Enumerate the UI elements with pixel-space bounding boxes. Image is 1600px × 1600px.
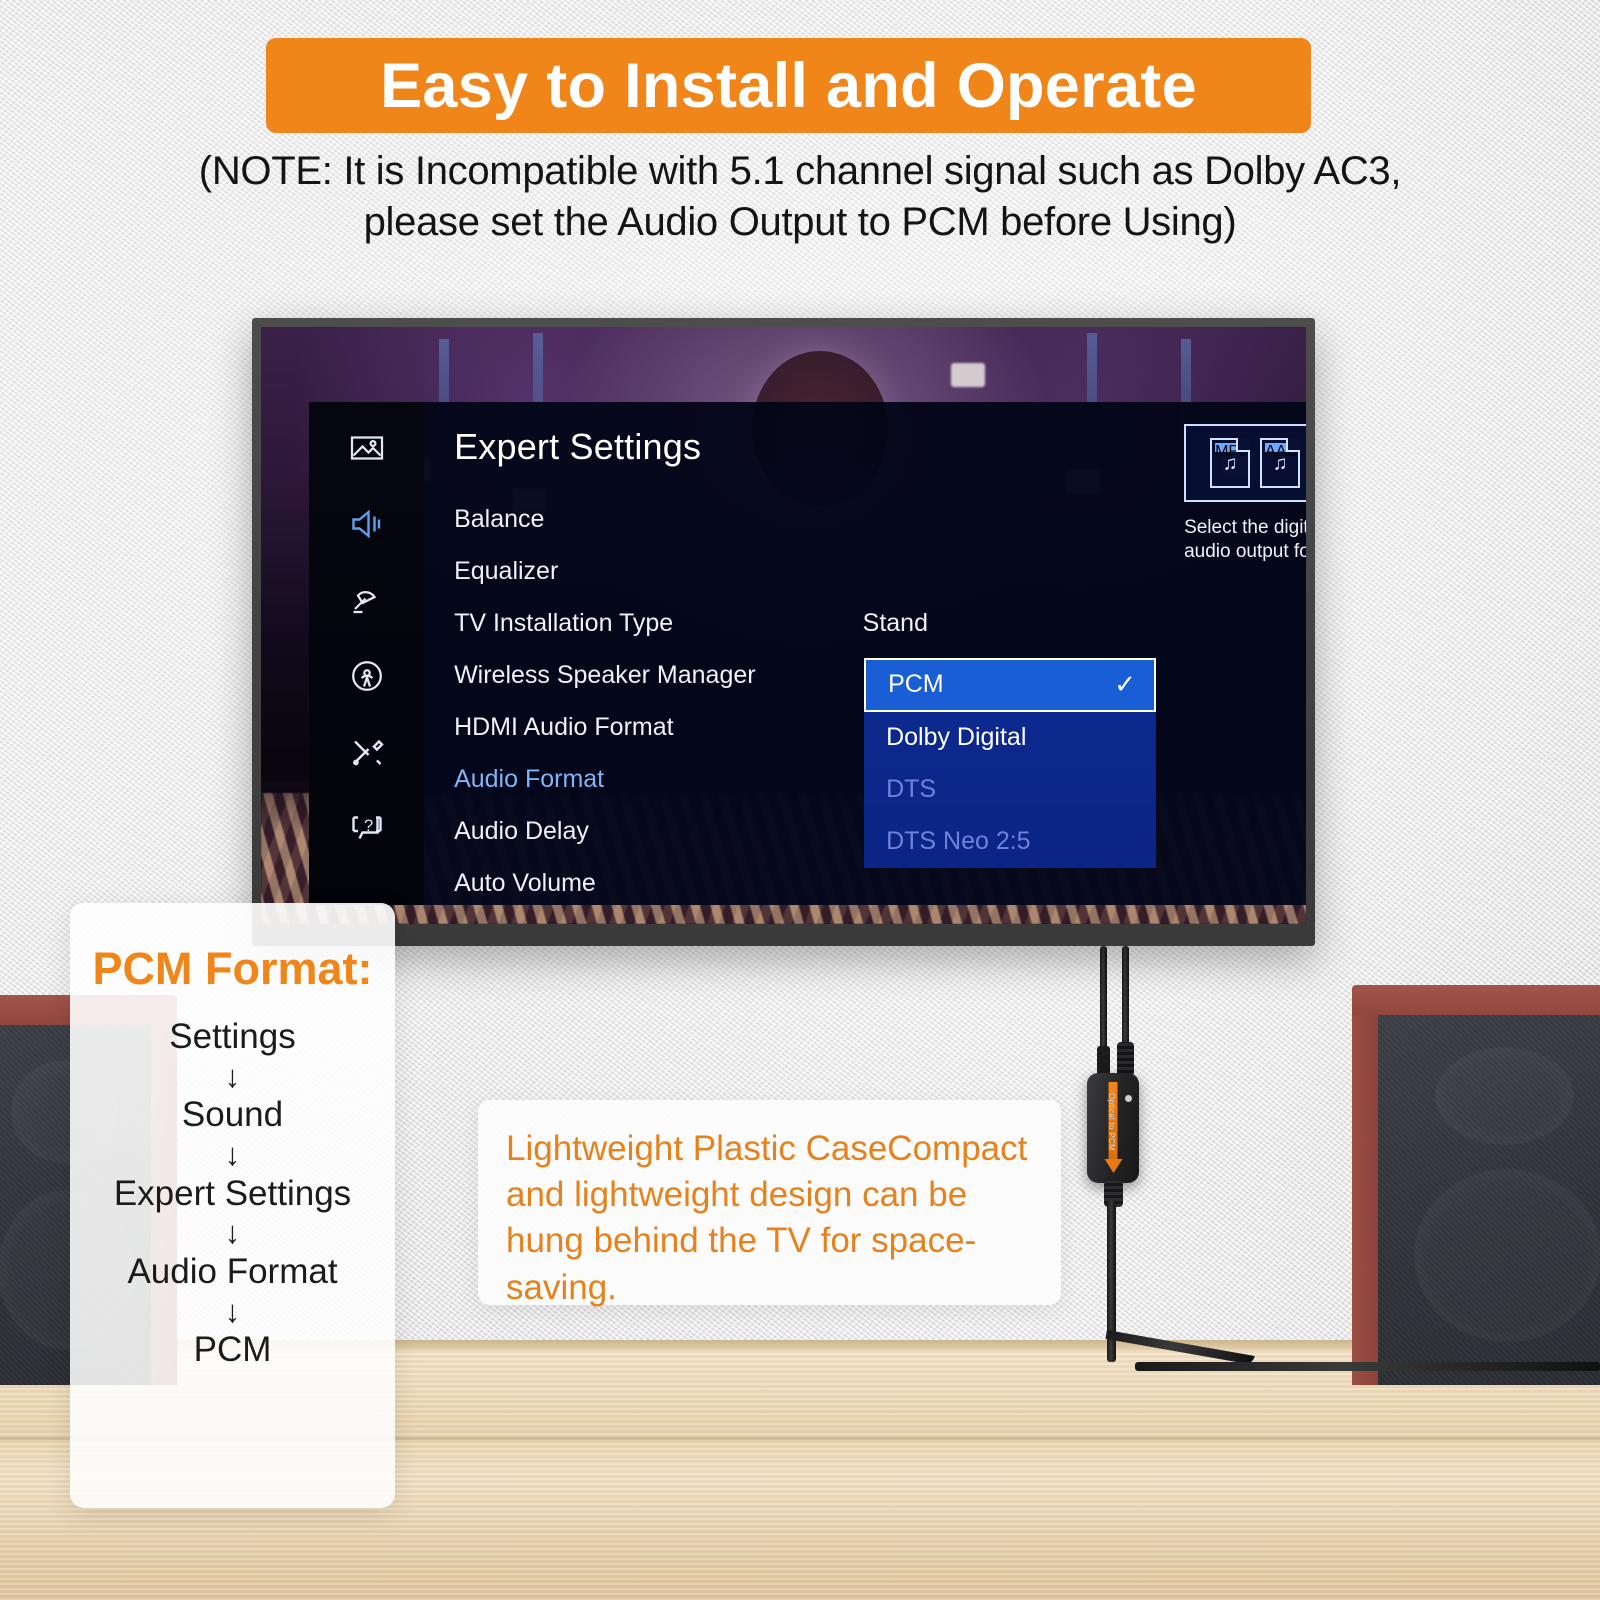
- menu-item-label: Audio Format: [454, 765, 604, 794]
- note-line-2: please set the Audio Output to PCM befor…: [0, 197, 1600, 248]
- sound-icon[interactable]: [347, 504, 387, 544]
- menu-item-value: Stand: [863, 609, 928, 638]
- flow-step-settings: Settings: [70, 1019, 395, 1056]
- help-description: Select the digital audio output format.: [1184, 516, 1306, 564]
- help-description-line-1: Select the digital: [1184, 516, 1306, 540]
- check-icon: ✓: [1114, 669, 1136, 700]
- flow-step-expert-settings: Expert Settings: [70, 1176, 395, 1213]
- adapter-arrow-label: Optical to PCM: [1107, 1093, 1116, 1161]
- dropdown-option-dts[interactable]: DTS: [864, 764, 1156, 816]
- menu-item-equalizer[interactable]: Equalizer: [454, 546, 1306, 598]
- menu-item-label: TV Installation Type: [454, 609, 673, 638]
- file-tag-label: MP3: [1215, 443, 1241, 452]
- arrow-down-icon: ↓: [70, 1296, 395, 1329]
- pcm-format-flow-card: PCM Format: Settings ↓ Sound ↓ Expert Se…: [70, 903, 395, 1508]
- dropdown-option-dolby-digital[interactable]: Dolby Digital: [864, 712, 1156, 764]
- page-headline: Easy to Install and Operate: [380, 50, 1197, 122]
- speaker-right: [1352, 985, 1600, 1385]
- flow-card-title: PCM Format:: [70, 943, 395, 995]
- dropdown-option-label: DTS: [886, 775, 936, 804]
- expert-settings-overlay: ? Expert Settings Balance Equalizer TV I…: [309, 402, 1306, 905]
- svg-text:?: ?: [364, 817, 373, 835]
- support-icon[interactable]: ?: [347, 808, 387, 848]
- menu-item-label: Auto Volume: [454, 869, 596, 898]
- help-description-line-2: audio output format.: [1184, 540, 1306, 564]
- television: ? Expert Settings Balance Equalizer TV I…: [252, 318, 1315, 946]
- menu-item-label: Wireless Speaker Manager: [454, 661, 756, 690]
- feature-caption-card: Lightweight Plastic CaseCompact and ligh…: [478, 1100, 1061, 1305]
- settings-body: Expert Settings Balance Equalizer TV Ins…: [424, 402, 1306, 905]
- music-note-icon: ♫: [1273, 453, 1288, 476]
- flow-step-audio-format: Audio Format: [70, 1254, 395, 1291]
- menu-item-balance[interactable]: Balance: [454, 494, 1306, 546]
- adapter-led-icon: [1125, 1095, 1132, 1102]
- arrow-down-icon: ↓: [70, 1217, 395, 1250]
- optical-to-pcm-adapter: Optical to PCM: [1087, 1073, 1139, 1183]
- dropdown-option-label: PCM: [888, 670, 944, 699]
- file-tag-label: AAC: [1265, 443, 1291, 452]
- audio-format-dropdown[interactable]: PCM ✓ Dolby Digital DTS DTS Neo 2:5: [864, 658, 1156, 868]
- compatibility-note: (NOTE: It is Incompatible with 5.1 chann…: [0, 146, 1600, 248]
- note-line-1: (NOTE: It is Incompatible with 5.1 chann…: [0, 146, 1600, 197]
- menu-item-label: Balance: [454, 505, 544, 534]
- menu-item-label: Audio Delay: [454, 817, 589, 846]
- network-icon[interactable]: [347, 656, 387, 696]
- flow-step-pcm: PCM: [70, 1332, 395, 1369]
- settings-sidebar[interactable]: ?: [309, 402, 424, 905]
- audio-format-illustration: MP3 ♫ AAC ♫ WAV ♫: [1184, 424, 1306, 502]
- arrow-down-icon: ↓: [70, 1061, 395, 1094]
- cable-lower-horizontal: [1135, 1362, 1600, 1371]
- arrow-down-icon: ↓: [70, 1139, 395, 1172]
- flow-step-sound: Sound: [70, 1097, 395, 1134]
- menu-item-label: HDMI Audio Format: [454, 713, 674, 742]
- dropdown-option-label: DTS Neo 2:5: [886, 827, 1031, 856]
- page-title: Expert Settings: [454, 426, 1306, 468]
- help-panel: MP3 ♫ AAC ♫ WAV ♫ Select the di: [1184, 424, 1306, 564]
- dropdown-option-pcm[interactable]: PCM ✓: [864, 658, 1156, 712]
- cable-plug-left: [1097, 1046, 1110, 1076]
- broadcast-icon[interactable]: [347, 580, 387, 620]
- music-note-icon: ♫: [1223, 453, 1238, 476]
- audio-file-icon: AAC ♫: [1260, 438, 1300, 488]
- feature-caption-text: Lightweight Plastic CaseCompact and ligh…: [506, 1126, 1033, 1311]
- dropdown-option-dts-neo[interactable]: DTS Neo 2:5: [864, 816, 1156, 868]
- menu-item-label: Equalizer: [454, 557, 558, 586]
- general-icon[interactable]: [347, 732, 387, 772]
- picture-icon[interactable]: [347, 428, 387, 468]
- dropdown-option-label: Dolby Digital: [886, 723, 1026, 752]
- cable-plug-right: [1117, 1042, 1134, 1076]
- header-banner: Easy to Install and Operate: [266, 38, 1311, 133]
- audio-file-icon: MP3 ♫: [1210, 438, 1250, 488]
- menu-item-tv-installation-type[interactable]: TV Installation Type Stand: [454, 598, 1306, 650]
- tv-screen: ? Expert Settings Balance Equalizer TV I…: [261, 327, 1306, 924]
